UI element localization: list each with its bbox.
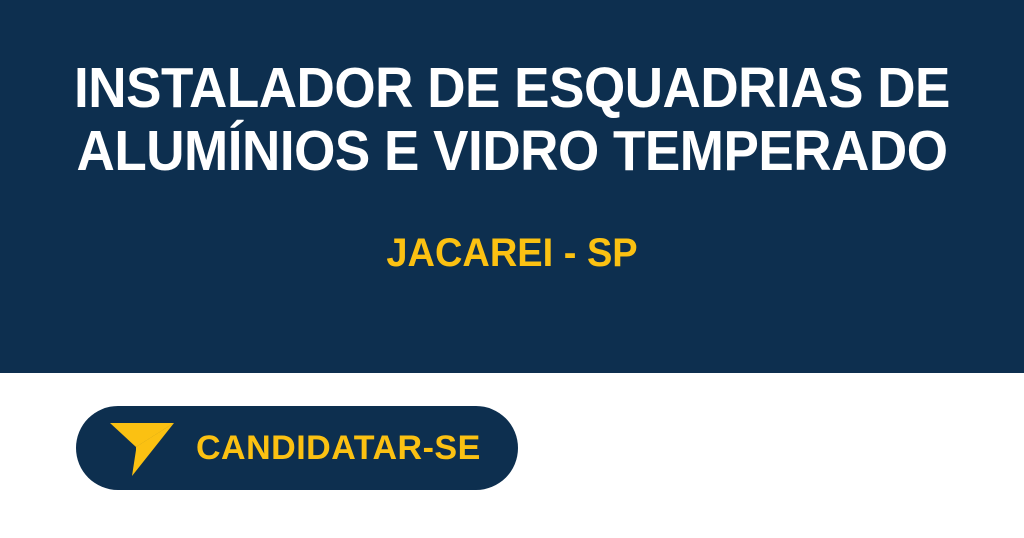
apply-button[interactable]: CANDIDATAR-SE	[76, 406, 518, 490]
send-paper-plane-icon	[106, 417, 178, 479]
job-posting-card: INSTALADOR DE ESQUADRIAS DE ALUMÍNIOS E …	[0, 0, 1024, 538]
apply-button-label: CANDIDATAR-SE	[196, 431, 481, 465]
page-title: INSTALADOR DE ESQUADRIAS DE ALUMÍNIOS E …	[36, 57, 988, 183]
footer-bar: CANDIDATAR-SE e EMPREGA SÃO JOSÉ	[0, 373, 1024, 538]
hero-banner: INSTALADOR DE ESQUADRIAS DE ALUMÍNIOS E …	[0, 0, 1024, 373]
job-location: JACAREI - SP	[26, 230, 999, 276]
